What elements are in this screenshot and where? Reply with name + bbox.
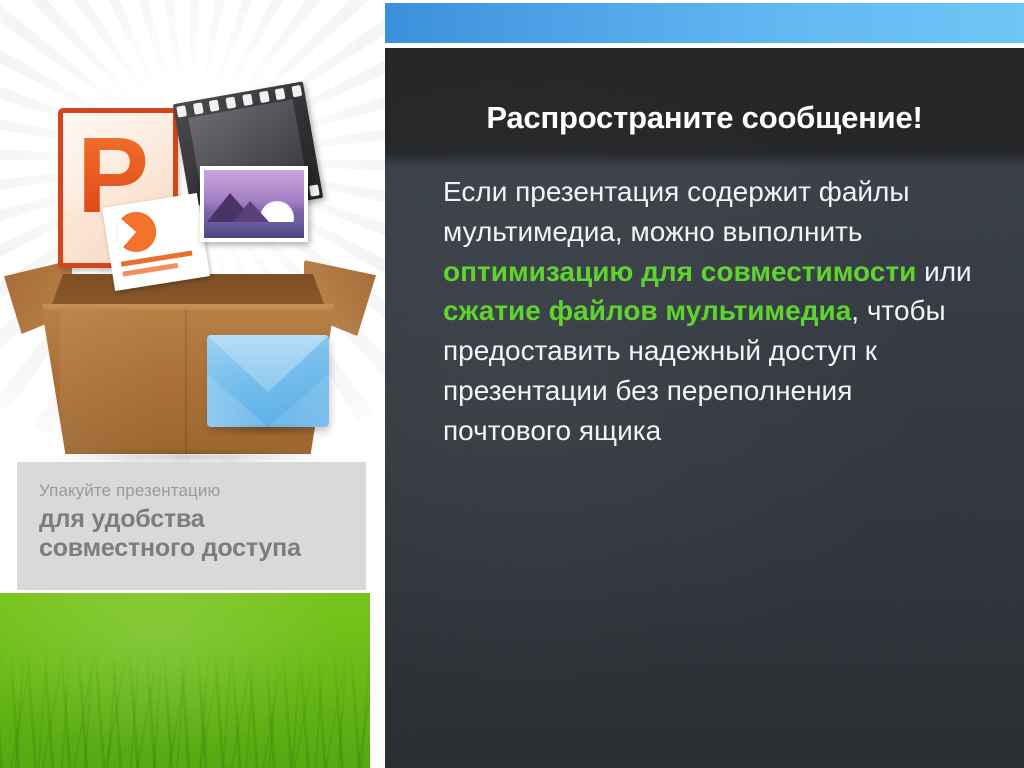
caption-big-line-2: совместного доступа	[39, 534, 366, 563]
accent-bar	[385, 3, 1024, 43]
caption-box: Упакуйте презентацию для удобства совмес…	[17, 462, 366, 590]
body-paragraph: Если презентация содержит файлы мультиме…	[443, 172, 988, 450]
envelope-icon	[207, 335, 329, 427]
content-panel: Распространите сообщение! Если презентац…	[385, 48, 1024, 768]
box-crease	[185, 310, 187, 454]
left-illustration-column: P	[0, 0, 385, 768]
envelope-flap	[207, 335, 329, 392]
photo-scene	[204, 170, 304, 238]
envelope-ground-shadow	[212, 424, 328, 436]
box-highlight	[60, 310, 159, 454]
presentation-slide: P	[0, 0, 1024, 768]
body-text-run: или	[916, 256, 971, 287]
caption-big-line-1: для удобства	[39, 505, 366, 534]
grass-blades	[0, 648, 370, 768]
photo-mountain	[232, 201, 270, 223]
body-highlight-phrase: сжатие файлов мультимедиа	[443, 295, 851, 326]
page-title: Распространите сообщение!	[385, 101, 1024, 135]
body-text-run: Если презентация содержит файлы мультиме…	[443, 176, 910, 247]
caption-small-line: Упакуйте презентацию	[39, 482, 366, 501]
body-text: Если презентация содержит файлы мультиме…	[443, 172, 988, 450]
body-highlight-phrase: оптимизацию для совместимости	[443, 256, 916, 287]
grass-band	[0, 593, 370, 768]
